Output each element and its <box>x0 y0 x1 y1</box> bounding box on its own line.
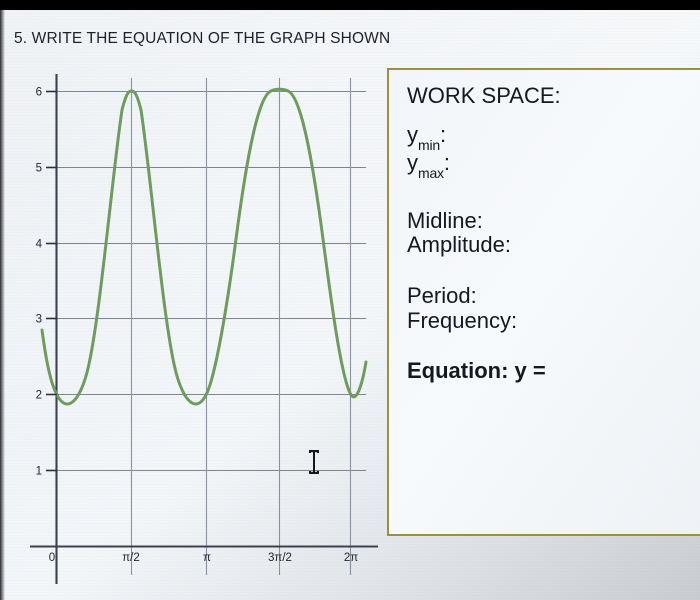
frequency-field: Frequency: <box>407 309 697 334</box>
y-min-field: ymin: <box>407 123 697 151</box>
work-space-heading: WORK SPACE: <box>407 84 697 109</box>
midline-field: Midline: <box>407 209 697 234</box>
x-tick-label-pi-2: π/2 <box>122 552 140 564</box>
x-tick-label-0: 0 <box>49 552 55 564</box>
y-tick-label-5: 5 <box>36 163 42 175</box>
sine-curve <box>42 89 366 404</box>
equation-field: Equation: y = <box>407 359 697 384</box>
vertical-gridlines <box>132 78 351 575</box>
y-min-symbol: y <box>407 122 418 147</box>
text-ibeam-cursor[interactable] <box>307 449 321 475</box>
y-tick-label-2: 2 <box>36 390 42 402</box>
y-min-subscript: min <box>418 137 440 153</box>
y-tick-marks <box>46 92 57 471</box>
amplitude-field: Amplitude: <box>407 233 697 258</box>
y-tick-label-4: 4 <box>36 239 43 251</box>
y-tick-label-3: 3 <box>36 314 42 326</box>
y-tick-label-6: 6 <box>36 87 42 99</box>
period-field: Period: <box>407 284 697 309</box>
y-max-field: ymax: <box>407 151 697 179</box>
x-tick-label-3pi-2: 3π/2 <box>268 552 292 564</box>
y-max-colon: : <box>444 150 450 175</box>
spacer-1 <box>407 179 697 209</box>
sinusoid-graph: 6 5 4 3 2 1 0 π/2 π 3π/2 2π <box>0 0 400 600</box>
y-tick-label-1: 1 <box>36 466 42 478</box>
x-tick-label-pi: π <box>203 552 211 564</box>
x-tick-label-2pi: 2π <box>344 552 358 564</box>
spacer-2 <box>407 258 697 284</box>
y-min-colon: : <box>440 122 446 147</box>
y-max-subscript: max <box>418 165 444 181</box>
work-space-panel: WORK SPACE: ymin: ymax: Midline: Amplitu… <box>387 68 700 536</box>
screenshot-root: 5. WRITE THE EQUATION OF THE GRAPH SHOWN <box>0 0 700 600</box>
spacer-3 <box>407 333 697 359</box>
y-max-symbol: y <box>407 150 418 175</box>
